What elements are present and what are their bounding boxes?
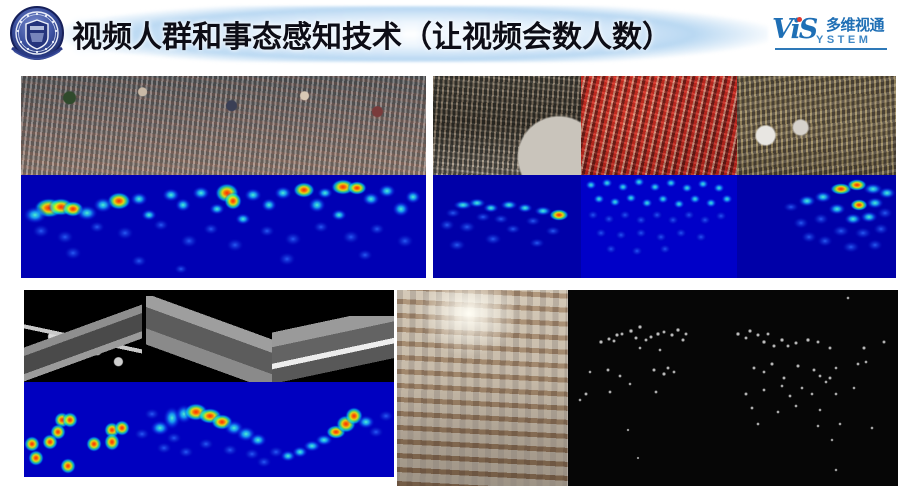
vis-logo-dot (797, 17, 802, 22)
panel-dense-crowd (433, 76, 896, 278)
crowd-photo-strip (21, 76, 426, 175)
density-heatmap-street (737, 175, 896, 278)
panel-classroom (397, 290, 568, 486)
heatmap-canvas (737, 175, 896, 278)
vis-system-logo: ViS 多维视通 YSTEM (772, 12, 894, 56)
vis-wordmark: ViS (772, 14, 816, 45)
density-heatmap-rally (581, 175, 737, 278)
crowd-photo-queue (433, 76, 581, 175)
head-detection-canvas (568, 290, 898, 486)
traffic-photo-a (24, 304, 142, 382)
university-crest-logo (6, 4, 68, 64)
vis-logo-underline (775, 48, 887, 50)
density-heatmap-strip (21, 175, 426, 278)
page-title: 视频人群和事态感知技术（让视频会数人数） (62, 6, 768, 62)
panel-head-detection (568, 290, 898, 486)
traffic-photo-b (146, 296, 278, 382)
heatmap-canvas (21, 175, 426, 278)
panel-pedestrian-plaza (21, 76, 426, 278)
density-heatmap-queue (433, 175, 581, 278)
traffic-photo-row (24, 290, 394, 382)
heatmap-canvas (24, 382, 394, 477)
vis-chinese-name: 多维视通 (826, 14, 884, 35)
slide-header: 视频人群和事态感知技术（让视频会数人数） ViS 多维视通 YSTEM (0, 0, 914, 68)
vehicle-density-heatmap (24, 382, 394, 477)
heatmap-canvas (581, 175, 737, 278)
crowd-photo-street (737, 76, 896, 175)
heatmap-canvas (433, 175, 581, 278)
crowd-photo-rally (581, 76, 737, 175)
traffic-photo-c (272, 316, 394, 382)
panel-traffic (24, 290, 394, 477)
vis-system-subtext: YSTEM (816, 34, 871, 46)
